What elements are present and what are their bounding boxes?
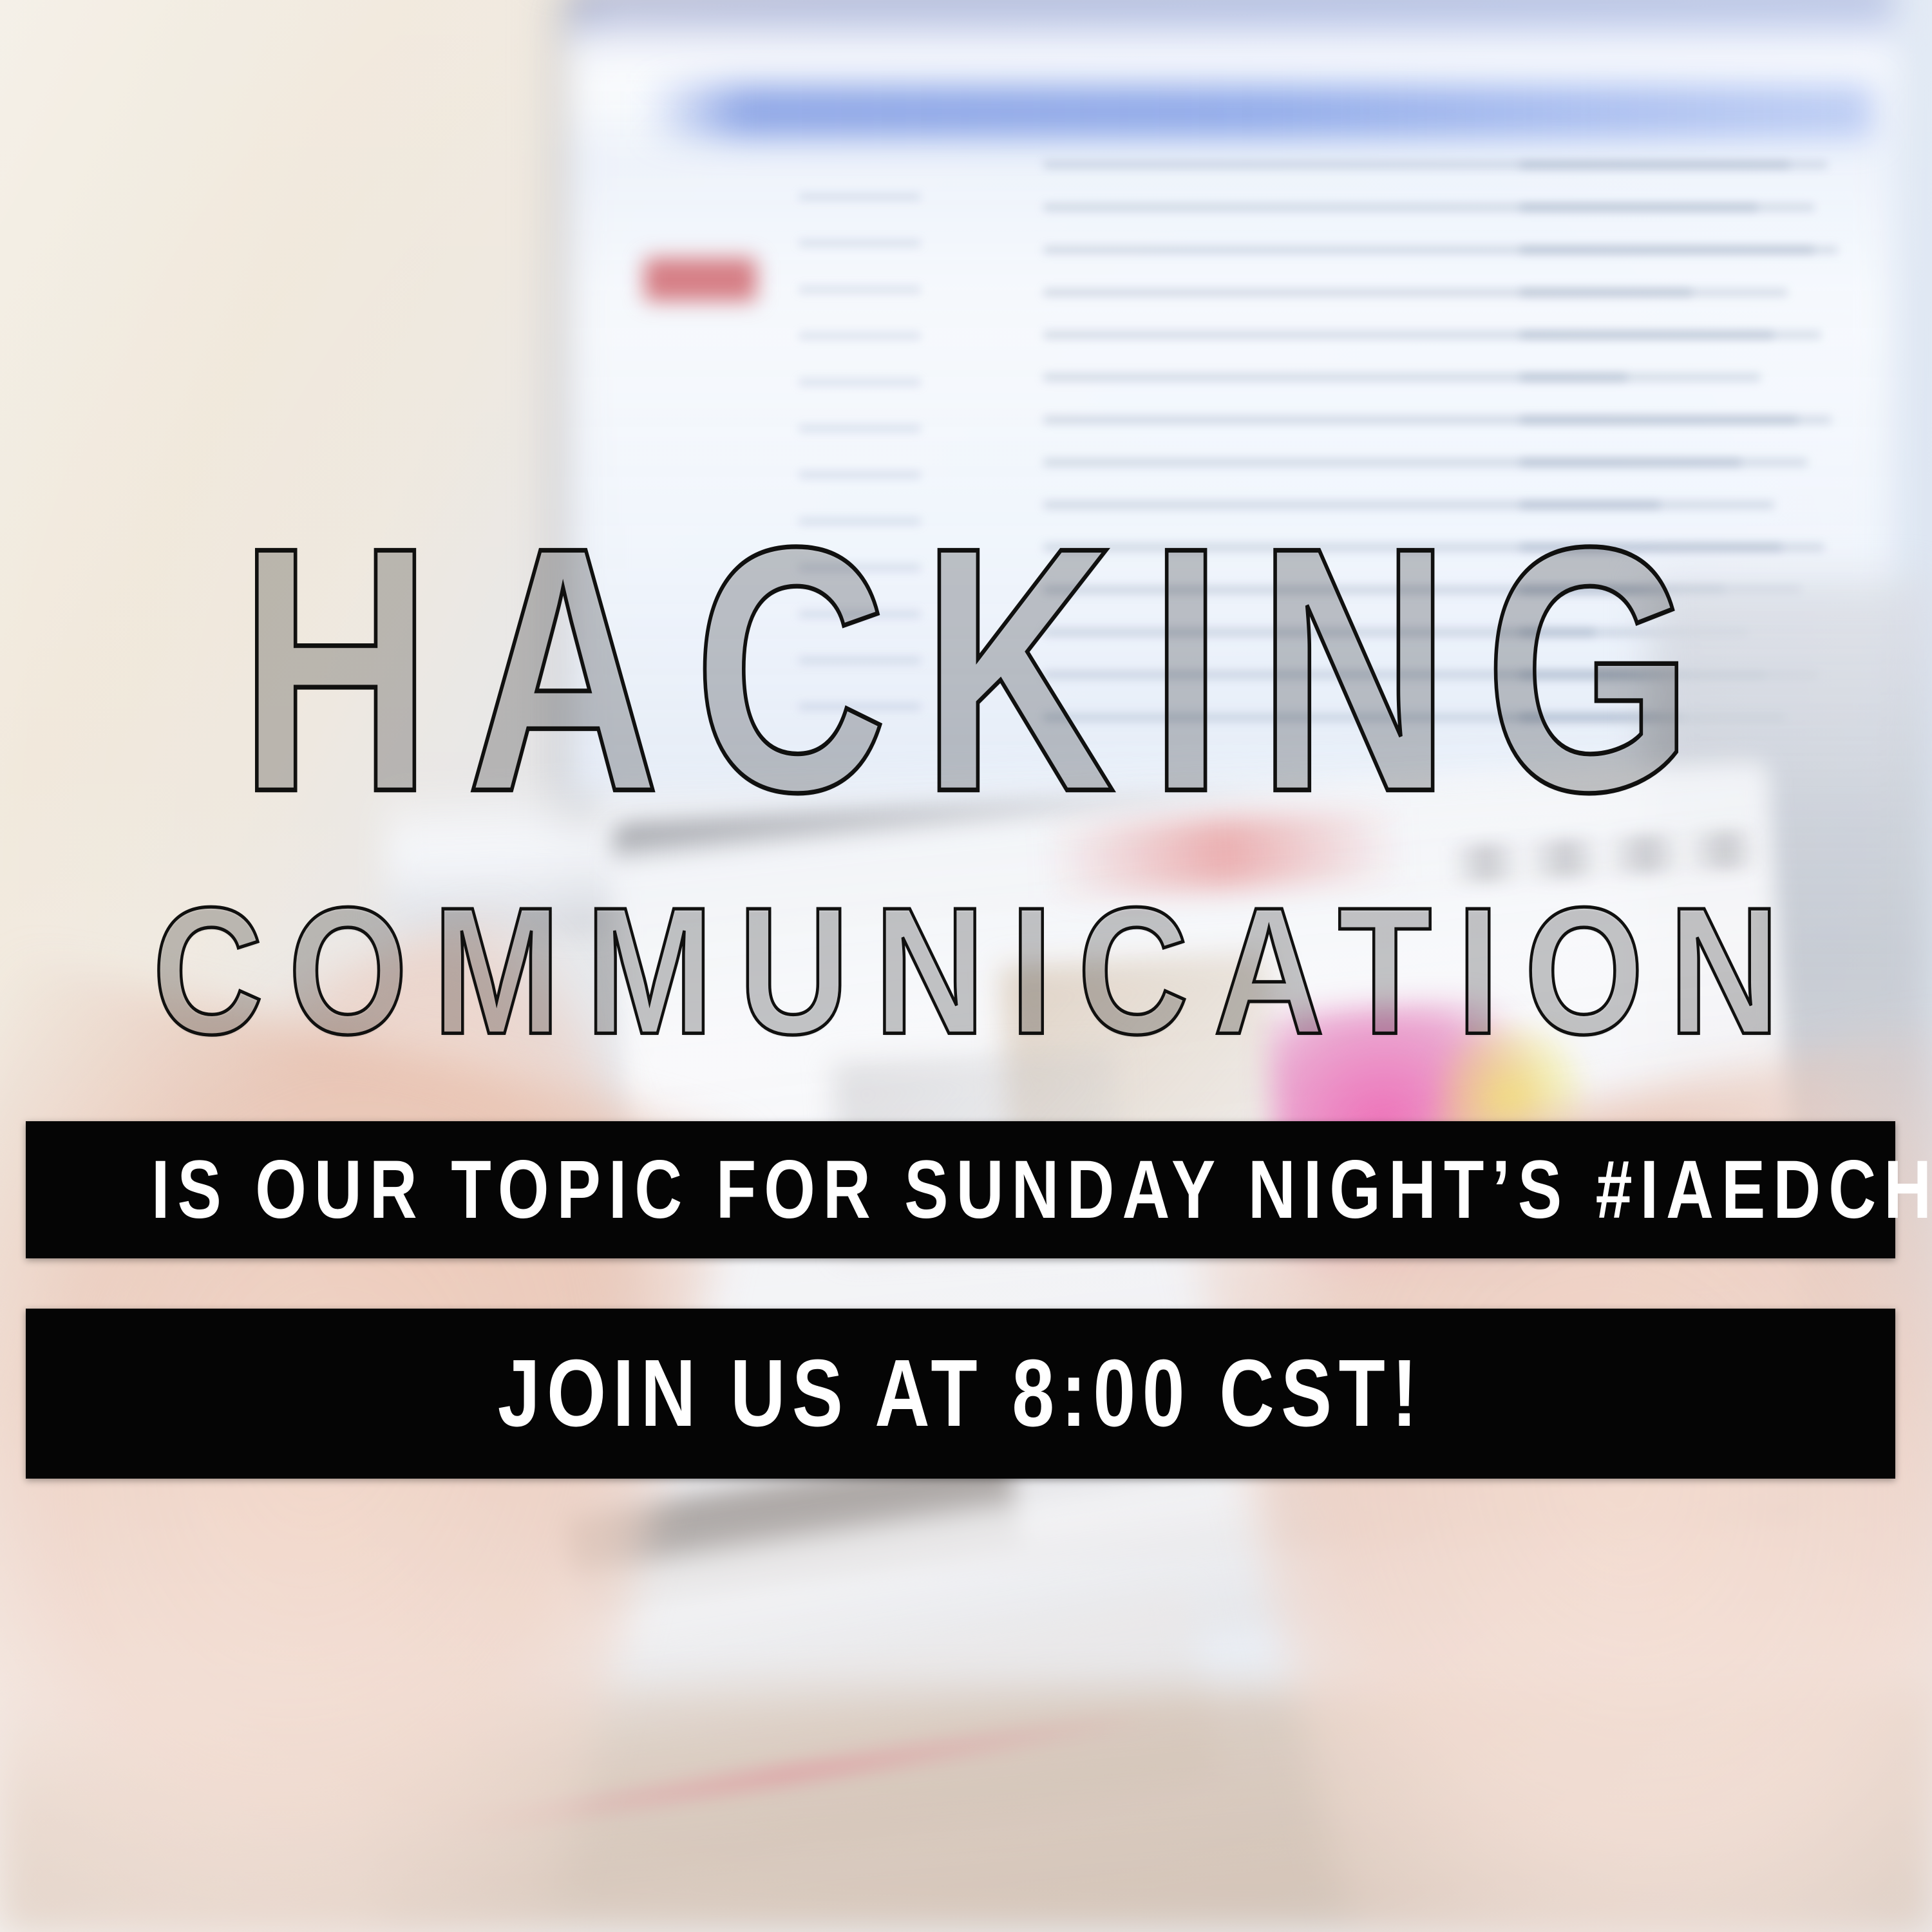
wooden-desk [0, 1687, 1932, 1932]
headline-secondary: COMMUNICATION [97, 881, 1835, 1062]
pink-accent-line [415, 1706, 1156, 1844]
topic-banner: IS OUR TOPIC FOR SUNDAY NIGHT’S #IAEDCHA… [26, 1121, 1895, 1258]
time-banner-text: JOIN US AT 8:00 CST! [497, 1339, 1423, 1448]
headline-primary: HACKING [193, 496, 1739, 844]
compose-button-blur [644, 258, 757, 301]
laptop-keyboard [350, 1589, 1221, 1927]
laptop-base [443, 1462, 1295, 1752]
time-banner: JOIN US AT 8:00 CST! [26, 1309, 1895, 1479]
browser-chrome-bar [644, 84, 1874, 139]
poster-canvas: HACKING COMMUNICATION IS OUR TOPIC FOR S… [0, 0, 1932, 1932]
topic-banner-text: IS OUR TOPIC FOR SUNDAY NIGHT’S #IAEDCHA… [151, 1142, 1932, 1237]
